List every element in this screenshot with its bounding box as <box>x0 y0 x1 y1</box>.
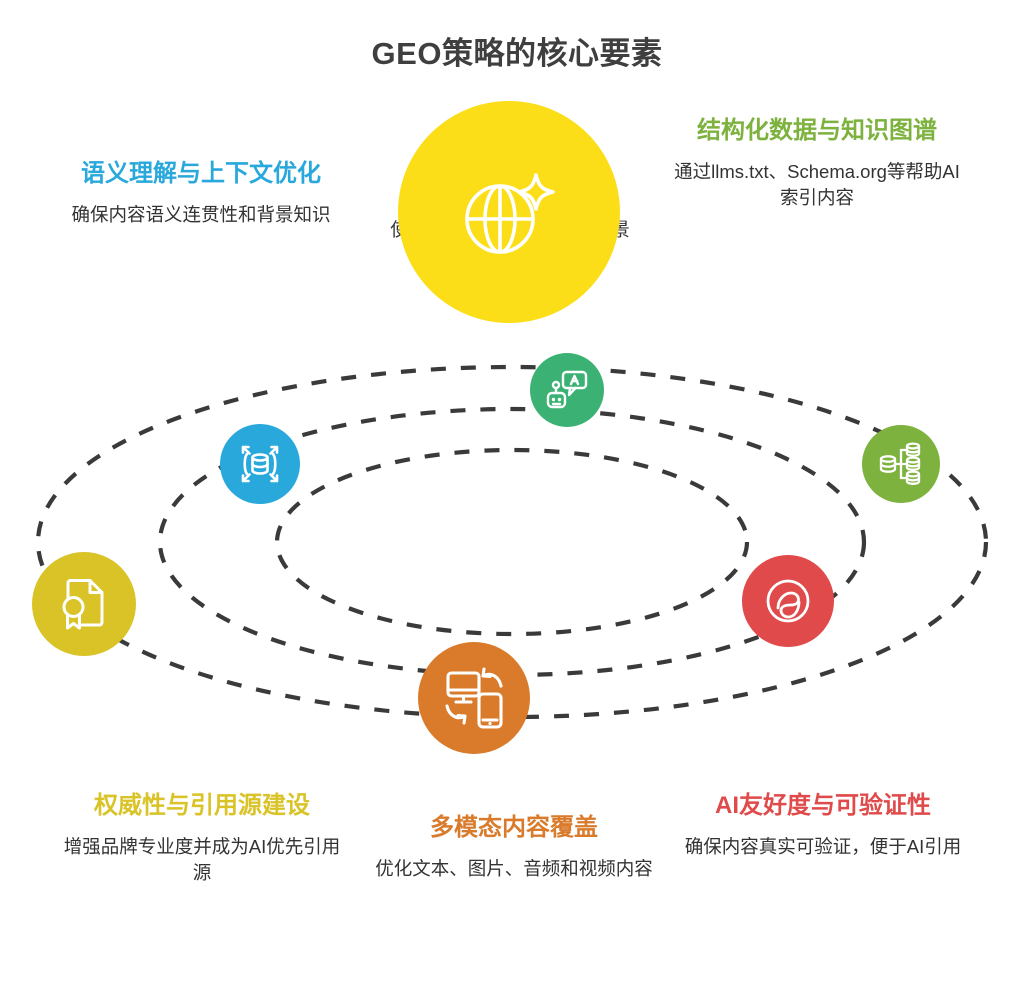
callout-multimodal-coverage: 多模态内容覆盖 优化文本、图片、音频和视频内容 <box>368 812 660 882</box>
center-node-geo[interactable] <box>398 101 620 323</box>
callout-title: AI友好度与可验证性 <box>678 790 968 822</box>
page-title: GEO策略的核心要素 <box>0 28 1034 73</box>
node-multimodal-coverage[interactable] <box>418 642 530 754</box>
callout-description: 确保内容语义连贯性和背景知识 <box>58 202 344 228</box>
callout-description: 优化文本、图片、音频和视频内容 <box>368 856 660 882</box>
robot-chat-icon <box>543 366 591 414</box>
node-ai-friendly[interactable] <box>742 555 834 647</box>
certified-document-icon <box>53 573 115 635</box>
database-hierarchy-icon <box>875 438 927 490</box>
callout-ai-friendly: AI友好度与可验证性 确保内容真实可验证，便于AI引用 <box>678 790 968 860</box>
verified-loop-icon <box>759 572 817 630</box>
callout-authority-source: 权威性与引用源建设 增强品牌专业度并成为AI优先引用源 <box>60 790 344 886</box>
callout-title: 多模态内容覆盖 <box>368 812 660 844</box>
callout-semantic-understanding: 语义理解与上下文优化 确保内容语义连贯性和背景知识 <box>58 158 344 228</box>
node-structured-data[interactable] <box>862 425 940 503</box>
node-conversational-design[interactable] <box>530 353 604 427</box>
node-authority-source[interactable] <box>32 552 136 656</box>
orbit-ring-inner <box>277 450 747 634</box>
globe-sparkle-icon <box>450 153 568 271</box>
callout-description: 确保内容真实可验证，便于AI引用 <box>678 834 968 860</box>
callout-title: 结构化数据与知识图谱 <box>672 115 962 147</box>
node-semantic-understanding[interactable] <box>220 424 300 504</box>
callout-title: 权威性与引用源建设 <box>60 790 344 822</box>
database-expand-icon <box>234 438 286 490</box>
callout-structured-data: 结构化数据与知识图谱 通过llms.txt、Schema.org等帮助AI索引内… <box>672 115 962 211</box>
callout-title: 语义理解与上下文优化 <box>58 158 344 190</box>
infographic-canvas: GEO策略的核心要素 <box>0 0 1034 984</box>
callout-description: 通过llms.txt、Schema.org等帮助AI索引内容 <box>672 159 962 212</box>
callout-description: 增强品牌专业度并成为AI优先引用源 <box>60 834 344 887</box>
device-sync-icon <box>439 663 509 733</box>
